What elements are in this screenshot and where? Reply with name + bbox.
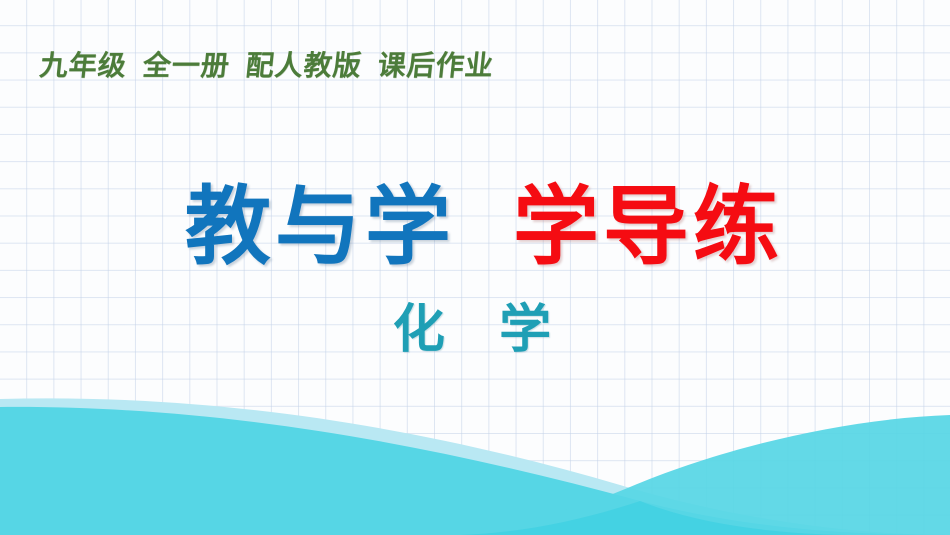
subject-label: 化 学 [0,287,950,362]
title-red-text: 学导练 [513,177,783,277]
header-meta-line: 九年级 全一册 配人教版 课后作业 [38,44,496,84]
title-blue-text: 教与学 [185,177,455,277]
bottom-wave-decoration [0,375,950,535]
slide-canvas: 九年级 全一册 配人教版 课后作业 教与学学导练 化 学 [0,0,950,535]
main-title: 教与学学导练 [0,168,950,286]
